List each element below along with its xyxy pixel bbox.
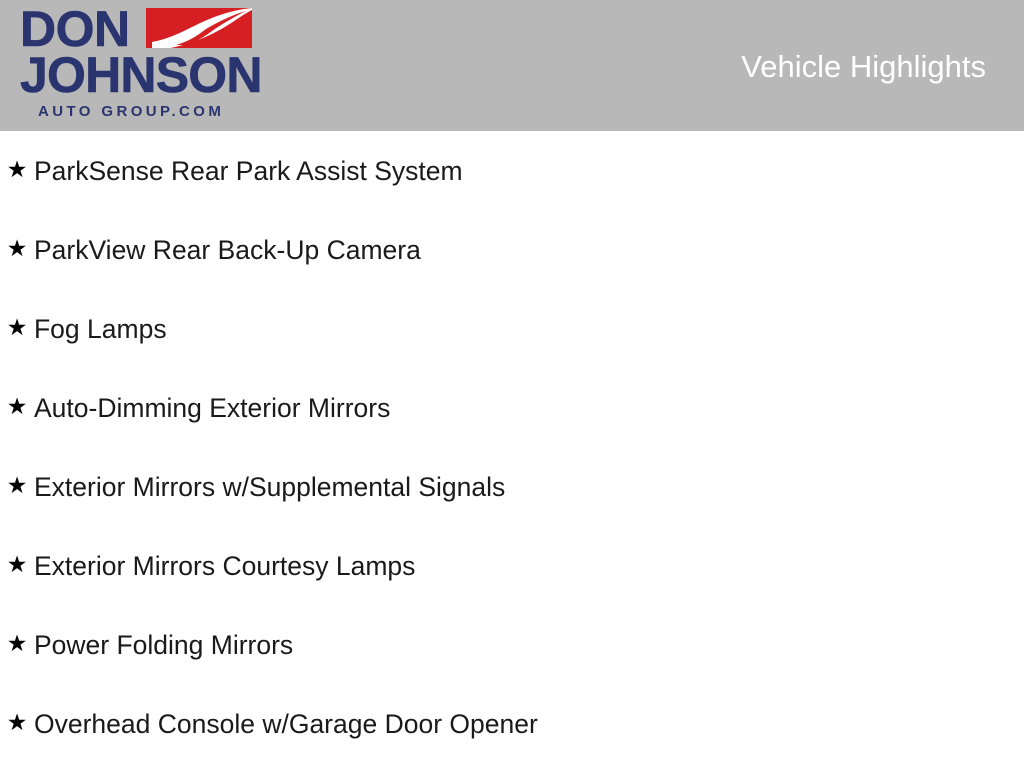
list-item-label: Auto-Dimming Exterior Mirrors xyxy=(34,393,390,423)
page-header: DON JOHNSON AUTO GROUP.COM Vehicle Highl… xyxy=(0,0,1024,131)
star-icon: ★ xyxy=(0,632,34,658)
list-item-label: Power Folding Mirrors xyxy=(34,630,293,660)
list-item: ★ParkSense Rear Park Assist System xyxy=(0,131,1024,210)
list-item: ★Overhead Console w/Garage Door Opener xyxy=(0,684,1024,763)
list-item-label: Exterior Mirrors w/Supplemental Signals xyxy=(34,472,505,502)
logo-text-johnson: JOHNSON xyxy=(20,50,262,100)
list-item: ★Fog Lamps xyxy=(0,289,1024,368)
list-item-label: Fog Lamps xyxy=(34,314,167,344)
list-item-label: ParkView Rear Back-Up Camera xyxy=(34,235,421,265)
dealer-logo[interactable]: DON JOHNSON AUTO GROUP.COM xyxy=(20,4,256,128)
star-icon: ★ xyxy=(0,395,34,421)
star-icon: ★ xyxy=(0,474,34,500)
swoosh-icon xyxy=(146,8,252,48)
list-item-label: ParkSense Rear Park Assist System xyxy=(34,156,463,186)
logo-tagline: AUTO GROUP.COM xyxy=(38,104,224,120)
list-item: ★Exterior Mirrors Courtesy Lamps xyxy=(0,526,1024,605)
list-item: ★Exterior Mirrors w/Supplemental Signals xyxy=(0,447,1024,526)
list-item-label: Exterior Mirrors Courtesy Lamps xyxy=(34,551,415,581)
star-icon: ★ xyxy=(0,553,34,579)
star-icon: ★ xyxy=(0,316,34,342)
list-item: ★Power Folding Mirrors xyxy=(0,605,1024,684)
logo-accent-box xyxy=(146,8,252,48)
page-title: Vehicle Highlights xyxy=(741,50,986,84)
star-icon: ★ xyxy=(0,237,34,263)
vehicle-highlights-list: ★ParkSense Rear Park Assist System★ParkV… xyxy=(0,131,1024,763)
star-icon: ★ xyxy=(0,158,34,184)
list-item: ★ParkView Rear Back-Up Camera xyxy=(0,210,1024,289)
star-icon: ★ xyxy=(0,711,34,737)
list-item: ★Auto-Dimming Exterior Mirrors xyxy=(0,368,1024,447)
list-item-label: Overhead Console w/Garage Door Opener xyxy=(34,709,538,739)
